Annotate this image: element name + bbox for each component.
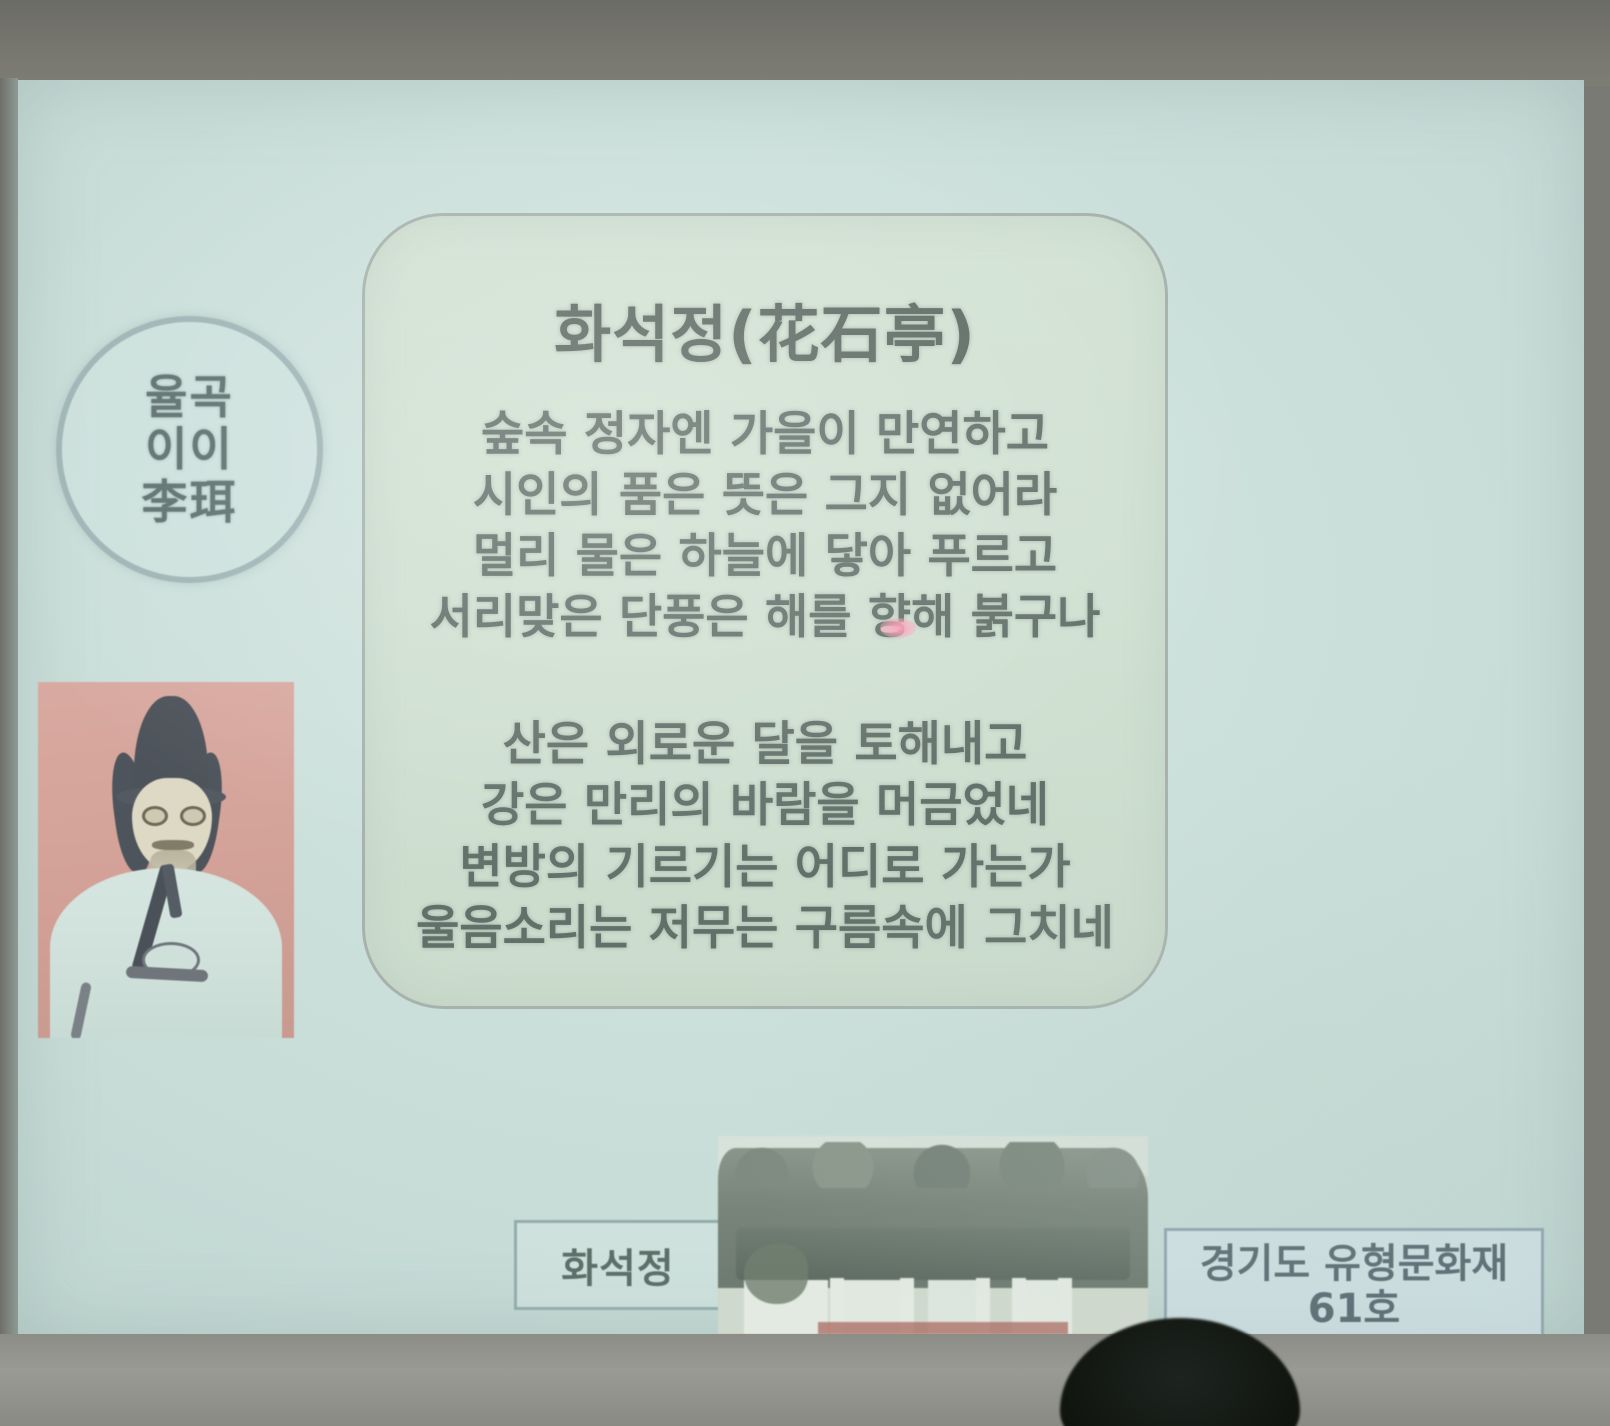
caption-left-label: 화석정 <box>561 1236 674 1294</box>
seal-line-2: 이이 <box>145 423 234 475</box>
poem-title: 화석정(花石亭) <box>365 284 1165 374</box>
portrait-eye-left <box>142 806 168 826</box>
wall-below-screen <box>0 1334 1610 1426</box>
seal-line-3: 李珥 <box>142 476 238 528</box>
wall-above-screen <box>0 0 1610 86</box>
poem-line-3: 멀리 물은 하늘에 닿아 푸르고 <box>365 526 1165 587</box>
caption-right-line-1: 경기도 유형문화재 <box>1200 1242 1508 1287</box>
poem-panel: 화석정(花石亭) 숲속 정자엔 가을이 만연하고 시인의 품은 뜻은 그지 없어… <box>362 213 1168 1009</box>
projected-slide: 율곡 이이 李珥 화석정(花石亭) 숲속 정 <box>18 80 1584 1338</box>
poem-stanza-2: 산은 외로운 달을 토해내고 강은 만리의 바람을 머금었네 변방의 기르기는 … <box>365 714 1165 958</box>
scholar-seal-badge: 율곡 이이 李珥 <box>56 316 323 583</box>
poem-stanza-1: 숲속 정자엔 가을이 만연하고 시인의 품은 뜻은 그지 없어라 멀리 물은 하… <box>365 404 1165 648</box>
portrait-eye-right <box>180 806 206 826</box>
caption-left-box: 화석정 <box>514 1220 722 1310</box>
poem-line-7: 변방의 기르기는 어디로 가는가 <box>365 837 1165 898</box>
scholar-portrait-image <box>38 682 294 1038</box>
wall-left-edge <box>0 78 18 1338</box>
pavilion-bush <box>744 1244 808 1304</box>
caption-right-line-2: 61호 <box>1308 1287 1400 1332</box>
portrait-mouth <box>152 840 194 850</box>
seal-line-1: 율곡 <box>145 371 234 423</box>
projection-photo-frame: 율곡 이이 李珥 화석정(花石亭) 숲속 정 <box>0 0 1610 1426</box>
poem-line-5: 산은 외로운 달을 토해내고 <box>365 714 1165 775</box>
poem-line-2: 시인의 품은 뜻은 그지 없어라 <box>365 465 1165 526</box>
poem-line-8: 울음소리는 저무는 구름속에 그치네 <box>365 898 1165 959</box>
poem-line-6: 강은 만리의 바람을 머금었네 <box>365 775 1165 836</box>
audience-head-silhouette <box>1060 1318 1300 1426</box>
poem-line-1: 숲속 정자엔 가을이 만연하고 <box>365 404 1165 465</box>
pavilion-tree-canopy <box>718 1142 1148 1188</box>
poem-line-4: 서리맞은 단풍은 해를 향해 붉구나 <box>365 587 1165 648</box>
